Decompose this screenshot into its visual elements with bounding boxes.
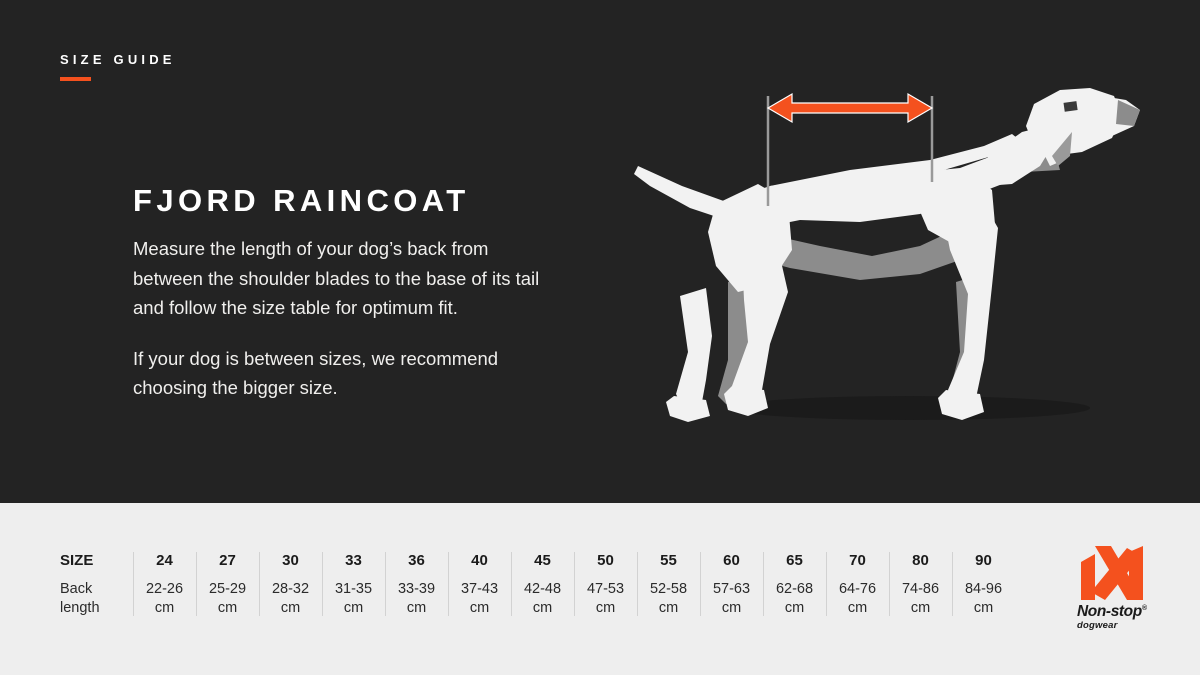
table-column-size-45: 45 42-48cm <box>511 550 574 618</box>
logo-name-text: Non-stop <box>1077 603 1142 620</box>
range-value: 52-58cm <box>639 580 698 618</box>
ground-shadow <box>730 396 1090 420</box>
size-value: 40 <box>450 550 509 580</box>
unit-text: cm <box>954 599 1013 618</box>
table-column-size-36: 36 33-39cm <box>385 550 448 618</box>
unit-text: cm <box>639 599 698 618</box>
dog-illustration <box>620 60 1160 440</box>
logo-tagline: dogwear <box>1077 620 1149 631</box>
range-text: 52-58 <box>650 581 687 597</box>
range-text: 37-43 <box>461 581 498 597</box>
brand-logo: Non-stop® dogwear <box>1077 544 1149 632</box>
size-value: 60 <box>702 550 761 580</box>
range-value: 74-86cm <box>891 580 950 618</box>
range-value: 57-63cm <box>702 580 761 618</box>
table-column-size-60: 60 57-63cm <box>700 550 763 618</box>
table-column-size-90: 90 84-96cm <box>952 550 1015 618</box>
size-value: 80 <box>891 550 950 580</box>
measure-arrow <box>768 94 932 122</box>
size-row-label: SIZE <box>60 550 131 580</box>
back-length-line-1: Back <box>60 581 92 597</box>
range-text: 28-32 <box>272 581 309 597</box>
eyebrow-rule <box>60 77 91 81</box>
range-text: 31-35 <box>335 581 372 597</box>
table-label-column: SIZE Back length <box>55 550 133 618</box>
size-value: 70 <box>828 550 887 580</box>
table-column-size-24: 24 22-26cm <box>133 550 196 618</box>
table-column-size-70: 70 64-76cm <box>826 550 889 618</box>
unit-text: cm <box>450 599 509 618</box>
table-column-size-30: 30 28-32cm <box>259 550 322 618</box>
range-value: 64-76cm <box>828 580 887 618</box>
footer-panel: SIZE Back length 24 22-26cm 27 25-29cm 3… <box>0 503 1200 675</box>
size-value: 55 <box>639 550 698 580</box>
table-column-size-33: 33 31-35cm <box>322 550 385 618</box>
range-value: 62-68cm <box>765 580 824 618</box>
back-length-row-label: Back length <box>60 580 131 618</box>
range-value: 47-53cm <box>576 580 635 618</box>
range-text: 57-63 <box>713 581 750 597</box>
table-column-size-65: 65 62-68cm <box>763 550 826 618</box>
page-title: FJORD RAINCOAT <box>133 183 470 219</box>
eyebrow-label: SIZE GUIDE <box>60 52 176 67</box>
unit-text: cm <box>765 599 824 618</box>
range-value: 31-35cm <box>324 580 383 618</box>
unit-text: cm <box>576 599 635 618</box>
size-value: 33 <box>324 550 383 580</box>
range-value: 37-43cm <box>450 580 509 618</box>
dog-eye <box>1064 101 1078 112</box>
hero-panel: SIZE GUIDE FJORD RAINCOAT Measure the le… <box>0 0 1200 503</box>
range-text: 84-96 <box>965 581 1002 597</box>
range-value: 22-26cm <box>135 580 194 618</box>
size-guide-page: SIZE GUIDE FJORD RAINCOAT Measure the le… <box>0 0 1200 675</box>
range-value: 84-96cm <box>954 580 1013 618</box>
table-column-size-80: 80 74-86cm <box>889 550 952 618</box>
size-value: 30 <box>261 550 320 580</box>
size-value: 27 <box>198 550 257 580</box>
table-column-size-50: 50 47-53cm <box>574 550 637 618</box>
range-value: 42-48cm <box>513 580 572 618</box>
range-value: 33-39cm <box>387 580 446 618</box>
registered-mark: ® <box>1142 605 1147 612</box>
back-length-line-2: length <box>60 600 100 616</box>
unit-text: cm <box>324 599 383 618</box>
range-text: 22-26 <box>146 581 183 597</box>
table-column-size-40: 40 37-43cm <box>448 550 511 618</box>
nonstop-mark-icon <box>1077 544 1147 600</box>
range-value: 25-29cm <box>198 580 257 618</box>
intro-copy: Measure the length of your dog’s back fr… <box>133 234 548 403</box>
table-column-size-55: 55 52-58cm <box>637 550 700 618</box>
unit-text: cm <box>261 599 320 618</box>
range-text: 33-39 <box>398 581 435 597</box>
range-text: 47-53 <box>587 581 624 597</box>
logo-wordmark: Non-stop® <box>1077 603 1149 621</box>
size-value: 24 <box>135 550 194 580</box>
range-text: 74-86 <box>902 581 939 597</box>
unit-text: cm <box>702 599 761 618</box>
range-text: 64-76 <box>839 581 876 597</box>
unit-text: cm <box>513 599 572 618</box>
range-value: 28-32cm <box>261 580 320 618</box>
size-value: 65 <box>765 550 824 580</box>
unit-text: cm <box>387 599 446 618</box>
unit-text: cm <box>135 599 194 618</box>
unit-text: cm <box>828 599 887 618</box>
size-value: 36 <box>387 550 446 580</box>
range-text: 62-68 <box>776 581 813 597</box>
size-table: SIZE Back length 24 22-26cm 27 25-29cm 3… <box>55 550 1015 618</box>
table-column-size-27: 27 25-29cm <box>196 550 259 618</box>
intro-paragraph-2: If your dog is between sizes, we recomme… <box>133 344 548 403</box>
size-value: 50 <box>576 550 635 580</box>
range-text: 25-29 <box>209 581 246 597</box>
size-value: 90 <box>954 550 1013 580</box>
unit-text: cm <box>198 599 257 618</box>
intro-paragraph-1: Measure the length of your dog’s back fr… <box>133 234 548 323</box>
size-value: 45 <box>513 550 572 580</box>
unit-text: cm <box>891 599 950 618</box>
range-text: 42-48 <box>524 581 561 597</box>
